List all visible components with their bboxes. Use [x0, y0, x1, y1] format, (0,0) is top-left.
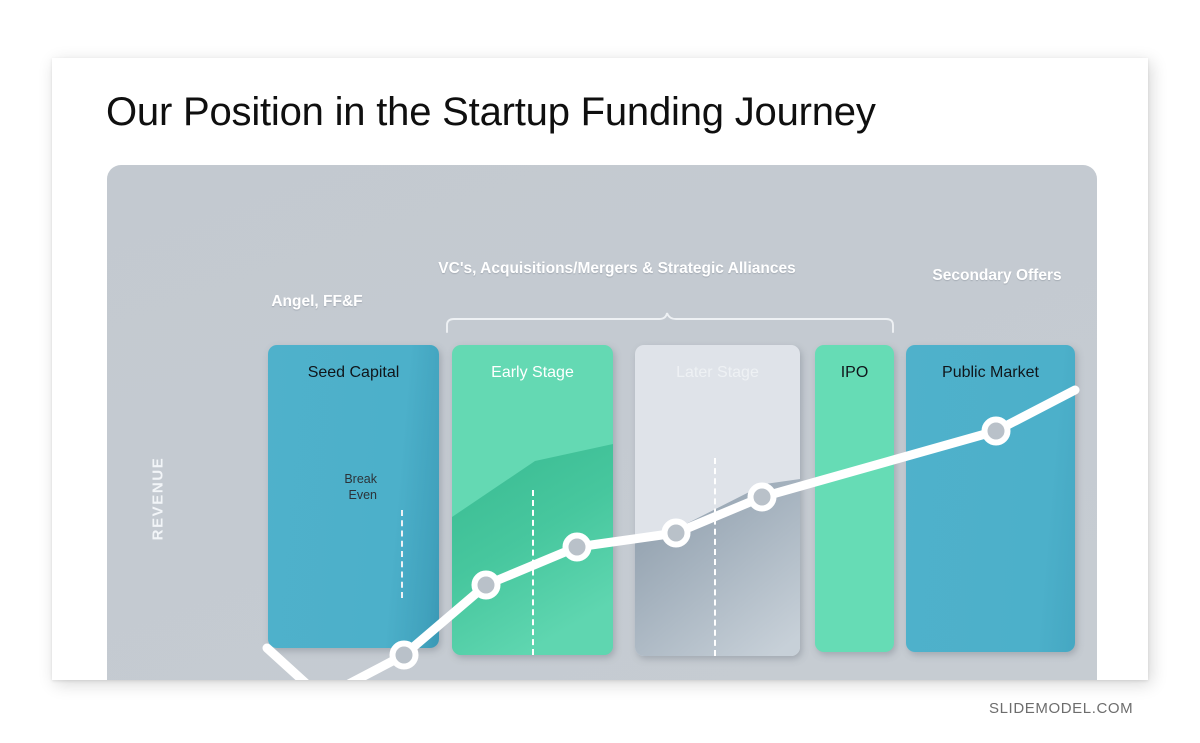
stage-bar-ipo[interactable]: IPO — [815, 345, 894, 652]
category-header-angel: Angel, FF&F — [207, 290, 427, 315]
stage-label-later-stage: Later Stage — [635, 364, 800, 382]
stage-label-public-market: Public Market — [906, 364, 1075, 382]
y-axis-label: REVENUE — [150, 439, 167, 559]
stage-bar-later-stage[interactable]: C Mezzanine Later Stage — [635, 345, 800, 656]
slide-card: Our Position in the Startup Funding Jour… — [52, 58, 1148, 680]
later-stage-under-curve-fill — [635, 345, 800, 656]
screenshot-root: Our Position in the Startup Funding Jour… — [0, 0, 1200, 743]
later-stage-divider — [714, 458, 716, 656]
stage-bar-early-stage[interactable]: A B Early Stage — [452, 345, 613, 655]
break-even-line-2: Even — [305, 487, 377, 503]
break-even-dashed-line — [401, 510, 403, 598]
category-header-vc: VC's, Acquisitions/Mergers & Strategic A… — [407, 257, 827, 282]
stage-label-early-stage: Early Stage — [452, 364, 613, 382]
x-axis-label: TIME — [594, 678, 714, 680]
curly-brace-icon — [445, 311, 895, 333]
category-header-secondary: Secondary Offers — [897, 264, 1097, 289]
funding-journey-panel: Angel, FF&F VC's, Acquisitions/Mergers &… — [107, 165, 1097, 680]
stage-label-seed-capital: Seed Capital — [268, 364, 439, 382]
page-title: Our Position in the Startup Funding Jour… — [106, 90, 876, 135]
brand-footer: SLIDEMODEL.COM — [989, 700, 1133, 717]
break-even-line-1: Break — [305, 471, 377, 487]
stage-bar-public-market[interactable]: Public Market — [906, 345, 1075, 652]
break-even-label: Break Even — [305, 471, 377, 504]
stage-label-ipo: IPO — [815, 364, 894, 382]
early-stage-divider — [532, 490, 534, 655]
